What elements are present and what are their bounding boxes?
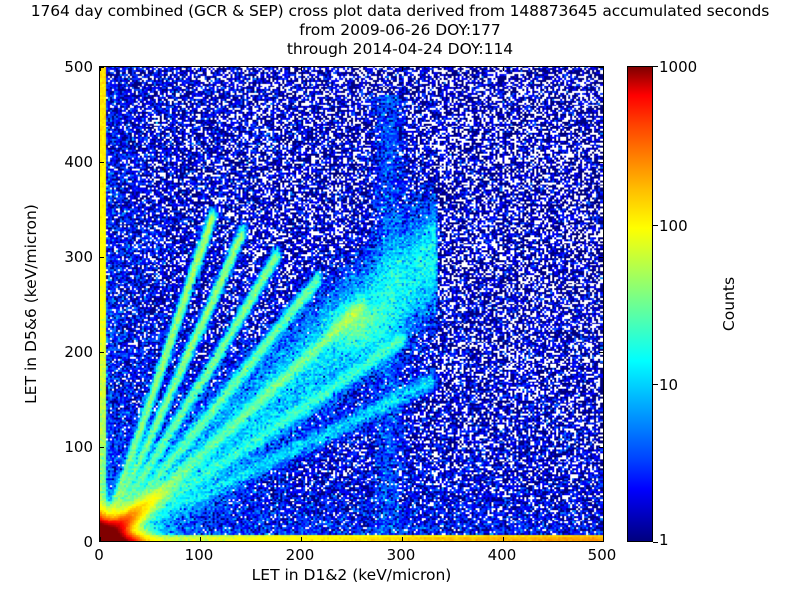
xtick-top-300 <box>402 67 403 71</box>
xtick-bottom-0 <box>100 537 101 541</box>
ytick-left-300 <box>100 257 104 258</box>
xtick-bottom-300 <box>402 537 403 541</box>
xticklabel-100: 100 <box>185 546 214 564</box>
figure-root: 1764 day combined (GCR & SEP) cross plot… <box>0 0 800 600</box>
title-line-2: from 2009-06-26 DOY:177 <box>0 21 800 40</box>
yticklabel-500: 500 <box>64 58 93 76</box>
xtick-top-500 <box>603 67 604 71</box>
title-line-1: 1764 day combined (GCR & SEP) cross plot… <box>0 2 800 21</box>
yticklabel-400: 400 <box>64 153 93 171</box>
xtick-bottom-500 <box>603 537 604 541</box>
colorbar-title: Counts <box>720 66 738 542</box>
ytick-left-400 <box>100 162 104 163</box>
xticklabel-500: 500 <box>588 546 617 564</box>
y-axis-label: LET in D5&6 (keV/micron) <box>22 66 40 542</box>
colorbar-tick-1000 <box>653 66 658 67</box>
ytick-right-200 <box>599 352 603 353</box>
colorbar-tick-10 <box>653 384 658 385</box>
colorbar-label-1000: 1000 <box>659 58 697 76</box>
density-scatter-canvas <box>100 67 603 541</box>
yticklabel-100: 100 <box>64 438 93 456</box>
colorbar-label-10: 10 <box>659 376 678 394</box>
yticklabel-200: 200 <box>64 343 93 361</box>
ytick-right-500 <box>599 67 603 68</box>
ytick-left-100 <box>100 447 104 448</box>
ytick-left-500 <box>100 67 104 68</box>
xticklabel-0: 0 <box>94 546 104 564</box>
xtick-top-400 <box>503 67 504 71</box>
ytick-right-300 <box>599 257 603 258</box>
xtick-bottom-400 <box>503 537 504 541</box>
xticklabel-300: 300 <box>387 546 416 564</box>
yticklabel-300: 300 <box>64 248 93 266</box>
ytick-left-200 <box>100 352 104 353</box>
plot-area[interactable] <box>99 66 604 542</box>
xtick-top-100 <box>200 67 201 71</box>
colorbar-label-1: 1 <box>659 531 669 549</box>
colorbar-label-100: 100 <box>659 217 688 235</box>
title-line-3: through 2014-04-24 DOY:114 <box>0 40 800 59</box>
yticklabel-0: 0 <box>83 533 93 551</box>
x-axis-label: LET in D1&2 (keV/micron) <box>99 566 604 584</box>
colorbar-tick-1 <box>653 542 658 543</box>
ytick-right-400 <box>599 162 603 163</box>
xticklabel-200: 200 <box>286 546 315 564</box>
ytick-right-100 <box>599 447 603 448</box>
xtick-top-200 <box>301 67 302 71</box>
xtick-bottom-200 <box>301 537 302 541</box>
xtick-bottom-100 <box>200 537 201 541</box>
colorbar-tick-100 <box>653 225 658 226</box>
colorbar <box>627 66 653 542</box>
figure-title: 1764 day combined (GCR & SEP) cross plot… <box>0 0 800 59</box>
xticklabel-400: 400 <box>488 546 517 564</box>
